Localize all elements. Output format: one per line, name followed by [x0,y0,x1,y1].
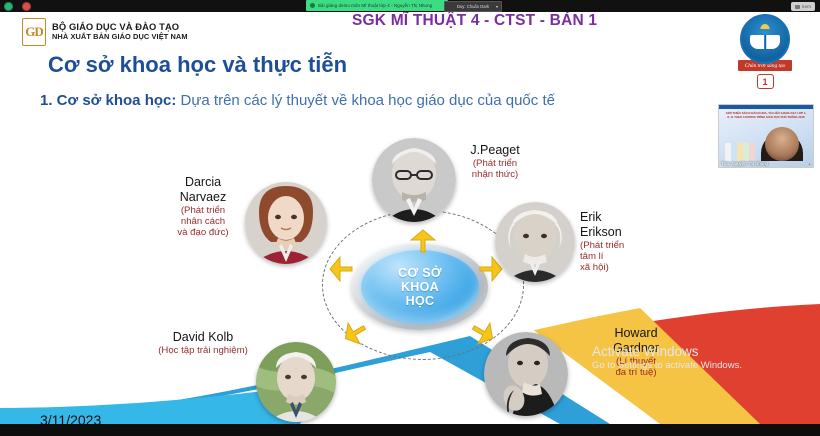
arrow-left-upper-icon [330,257,352,281]
label-erikson-detail-1: (Phát triển [580,240,688,251]
slide-book-title: SGK MĨ THUẬT 4 - CTST - BẢN 1 [352,12,597,30]
microphone-icon[interactable] [4,2,13,11]
label-erikson-name-2: Erikson [580,225,688,240]
presenter-name-overlay: ThS. Nguyễn Thị Nhung [721,161,768,166]
label-peaget: J.Peaget (Phát triển nhận thức) [440,143,550,180]
video-corner-logo-icon: ▲ [808,162,811,166]
window-bottom-bar [0,424,820,436]
layout-select[interactable]: Duy: Chuẩn Dark ▾ [444,1,502,12]
grade-badge: 1 [757,74,774,89]
slide-heading: Cơ sở khoa học và thực tiễn [48,52,347,78]
layout-select-label: Duy: Chuẩn Dark [457,4,489,9]
label-peaget-detail-1: (Phát triển [440,158,550,169]
video-books [725,143,755,161]
slide-datestamp: 3/11/2023 [40,412,101,424]
publisher-logo: GD BỘ GIÁO DỤC VÀ ĐÀO TẠO NHÀ XUẤT BẢN G… [22,18,188,46]
presenter-face [765,127,799,161]
label-erikson: Erik Erikson (Phát triển tâm lí xã hội) [580,210,688,273]
label-erikson-detail-2: tâm lí [580,251,688,262]
record-icon[interactable] [22,2,31,11]
session-banner-text: Bài giảng demo môn Mĩ thuật lớp 4 - Nguy… [318,3,432,8]
label-gardner-detail-1: (Lí thuyết [580,356,692,367]
screen-capture: Bài giảng demo môn Mĩ thuật lớp 4 - Nguy… [0,0,820,436]
session-banner: Bài giảng demo môn Mĩ thuật lớp 4 - Nguy… [306,0,448,11]
slide-subheading: 1. Cơ sở khoa học: Dựa trên các lý thuyế… [40,92,555,109]
label-narvaez-name-1: Darcia [148,175,258,190]
label-narvaez-detail-3: và đạo đức) [148,227,258,238]
label-gardner: Howard Gardner (Lí thuyết đa trí tuệ) [580,326,692,378]
label-narvaez-detail-2: nhân cách [148,216,258,227]
label-gardner-name-1: Howard [580,326,692,341]
meeting-toolbar: Bài giảng demo môn Mĩ thuật lớp 4 - Nguy… [0,0,820,12]
video-slide-header [719,105,813,109]
label-kolb-name: David Kolb [138,330,268,345]
portrait-gardner [484,332,568,416]
chevron-down-icon: ▾ [496,4,498,9]
label-narvaez-detail-1: (Phát triển [148,205,258,216]
slide-subheading-bold: 1. Cơ sở khoa học: [40,92,176,109]
label-kolb: David Kolb (Học tập trải nghiệm) [138,330,268,356]
label-narvaez: Darcia Narvaez (Phát triển nhân cách và … [148,175,258,238]
brand-logo: Chân trời sáng tạo 1 [737,14,793,89]
slide-subheading-rest: Dựa trên các lý thuyết về khoa học giáo … [176,92,555,109]
publisher-mark-icon: GD [22,18,46,46]
share-screen-label: Xem [802,4,811,9]
brand-circle-icon [740,14,790,64]
video-slide-title: GIỚI THIỆU SÁCH GIÁO KHOA, TÀI LIỆU GIẢN… [725,112,807,119]
presenter-video-tile[interactable]: GIỚI THIỆU SÁCH GIÁO KHOA, TÀI LIỆU GIẢN… [718,104,814,168]
label-gardner-name-2: Gardner [580,341,692,356]
open-book-icon [750,35,780,49]
publisher-line2: NHÀ XUẤT BẢN GIÁO DỤC VIỆT NAM [52,33,188,42]
label-erikson-name-1: Erik [580,210,688,225]
label-peaget-detail-2: nhận thức) [440,169,550,180]
label-peaget-name: J.Peaget [440,143,550,158]
banner-dot-icon [310,3,315,8]
label-erikson-detail-3: xã hội) [580,262,688,273]
arrow-up-icon [411,230,435,252]
presentation-slide: GD BỘ GIÁO DỤC VÀ ĐÀO TẠO NHÀ XUẤT BẢN G… [0,12,820,424]
screen-icon [795,5,800,9]
label-gardner-detail-2: đa trí tuệ) [580,367,692,378]
share-screen-button[interactable]: Xem [791,2,815,11]
participant-panel[interactable]: Chân trời sáng tạo 1 GIỚI THIỆU SÁCH GIÁ… [710,12,820,139]
arrow-right-lower-icon [467,317,498,349]
portrait-erikson [495,202,575,282]
sun-icon [761,24,770,29]
label-narvaez-name-2: Narvaez [148,190,258,205]
label-kolb-detail-1: (Học tập trải nghiệm) [138,345,268,356]
arrow-left-lower-icon [339,317,370,349]
portrait-kolb [256,342,336,422]
